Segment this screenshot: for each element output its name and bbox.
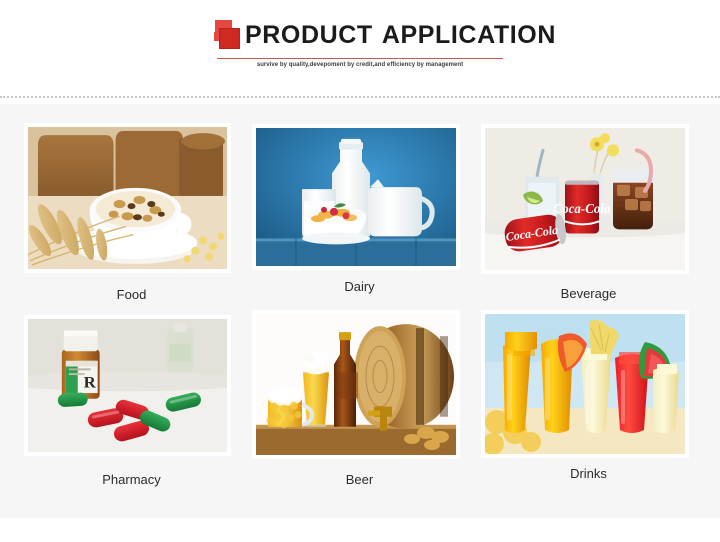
logo-square-dark [219, 28, 240, 49]
card-label: Beverage [481, 286, 696, 302]
title-application: APPLICATION [382, 21, 556, 49]
header-divider [0, 96, 720, 98]
card-label: Drinks [481, 466, 696, 482]
two-red-squares-logo-icon [205, 20, 239, 50]
brand-lockup: PRODUCTAPPLICATION survive by quality,de… [205, 18, 515, 74]
product-card-pharmacy[interactable]: R [24, 315, 239, 488]
brand-tagline: survive by quality,devepoment by credit,… [205, 62, 515, 68]
page-title: PRODUCTAPPLICATION [245, 20, 556, 50]
card-label: Beer [252, 472, 467, 488]
svg-text:Coca-Cola: Coca-Cola [554, 201, 611, 216]
beer-glass-barrel-photo [256, 314, 456, 455]
coca-cola-cans-photo: Coca-Cola Coca-Cola [485, 128, 685, 270]
cereal-bowl-with-wheat-photo [28, 127, 227, 269]
image-frame [252, 124, 460, 270]
fruit-juice-glasses-photo [485, 314, 685, 454]
product-card-drinks[interactable]: Drinks [481, 310, 696, 482]
card-label: Food [24, 287, 239, 303]
product-grid: Food [0, 104, 720, 518]
header: PRODUCTAPPLICATION survive by quality,de… [0, 0, 720, 97]
content-panel: Food [0, 104, 720, 518]
image-frame [481, 310, 689, 458]
product-card-beverage[interactable]: Coca-Cola Coca-Cola Beverage [481, 124, 696, 302]
brand-title-row: PRODUCTAPPLICATION [205, 18, 515, 52]
title-underline [217, 58, 503, 59]
title-product: PRODUCT [245, 21, 373, 49]
product-card-dairy[interactable]: Dairy [252, 124, 467, 295]
product-card-food[interactable]: Food [24, 123, 239, 303]
image-frame [24, 123, 231, 273]
card-label: Dairy [252, 279, 467, 295]
image-frame: Coca-Cola Coca-Cola [481, 124, 689, 274]
product-card-beer[interactable]: Beer [252, 310, 467, 488]
medicine-bottle-capsules-photo: R [28, 319, 227, 452]
milk-bottle-pitcher-photo [256, 128, 456, 266]
image-frame [252, 310, 460, 459]
svg-text:R: R [84, 373, 97, 392]
card-label: Pharmacy [24, 472, 239, 488]
slide-page: PRODUCTAPPLICATION survive by quality,de… [0, 0, 720, 542]
image-frame: R [24, 315, 231, 456]
